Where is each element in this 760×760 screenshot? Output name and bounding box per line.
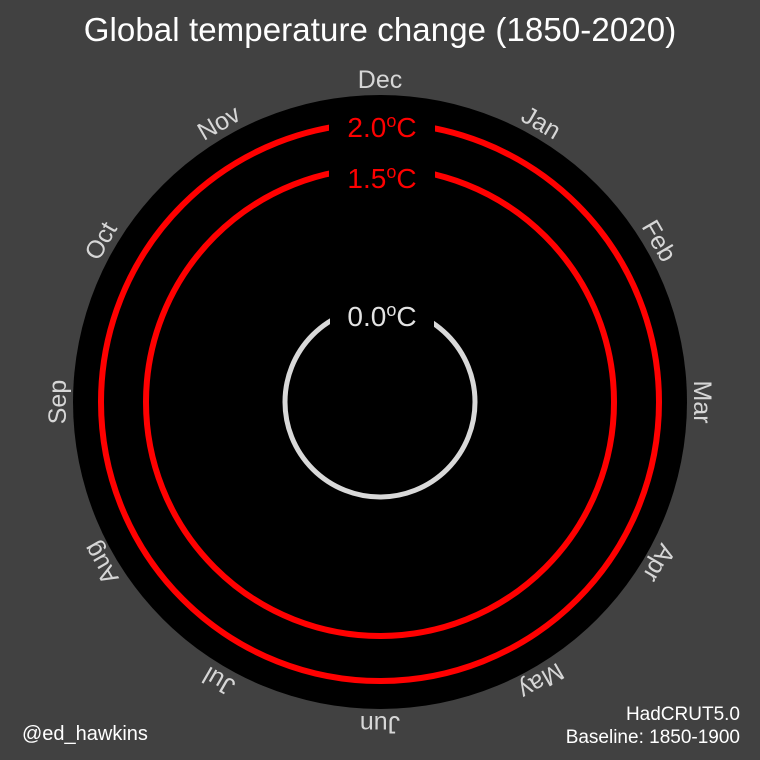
month-label-dec: Dec [358, 66, 402, 94]
ring-label-0.0C: 0.0oC [347, 300, 416, 332]
month-label-mar: Mar [688, 380, 716, 423]
author-credit: @ed_hawkins [22, 723, 148, 746]
month-label-sep: Sep [44, 380, 72, 424]
spiral-plot-area: 2.0oC 1.5oC 0.0oC DecJanFebMarAprMayJunJ… [0, 0, 760, 760]
ring-label-2.0C: 2.0oC [347, 111, 416, 143]
dataset-source: HadCRUT5.0 [626, 704, 740, 726]
ring-label-1.5C: 1.5oC [347, 162, 416, 194]
climate-spiral-figure: Global temperature change (1850-2020) 2.… [0, 0, 760, 760]
month-label-jun: Jun [360, 710, 400, 738]
baseline-period: Baseline: 1850-1900 [566, 727, 740, 749]
